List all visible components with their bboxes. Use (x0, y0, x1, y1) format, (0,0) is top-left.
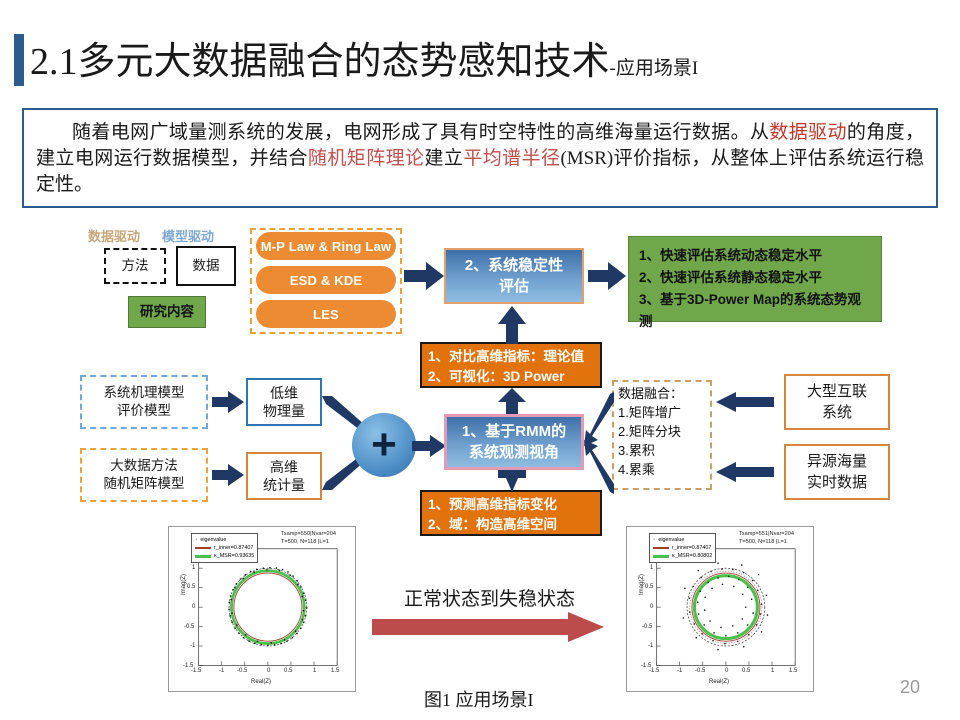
chart-left-legend-label-0: eigenvalue (200, 536, 226, 544)
msr-line-icon (653, 555, 669, 558)
chart-left-ytick-4: 0.5 (187, 584, 195, 590)
arrow-mechanism-to-lowdim (212, 391, 244, 413)
chart-right-xlabel: Real(Z) (709, 679, 729, 685)
chart-left-xtick-6: 1.5 (331, 668, 339, 674)
arrow-rmm-to-predict-note (498, 470, 526, 492)
chart-left-title-line1: Tsamp=550|Nvar=204 (281, 531, 336, 539)
method-pill-les-label: LES (313, 307, 339, 322)
paragraph-highlight-msr: 平均谱半径 (463, 148, 560, 169)
arrow-rmm-to-note (498, 388, 526, 414)
box-heterogeneous-realtime-data-line2: 实时数据 (807, 472, 867, 493)
paragraph-highlight-rmt: 随机矩阵理论 (308, 148, 425, 169)
legend-box-research-label: 研究内容 (140, 303, 194, 321)
chart-right-xtick-5: 1 (771, 668, 774, 674)
chart-right-title: Tsamp=551|Nvar=204 T=500, N=118 |L=1 (739, 531, 794, 546)
chart-left-ytick-5: 1 (192, 565, 195, 571)
chart-left-legend-item-2: κ_MSR=0.93635 (195, 552, 254, 560)
box-large-interconnected-system-line1: 大型互联 (807, 381, 867, 402)
legend-box-method-label: 方法 (122, 257, 149, 275)
chart-right-xtick-6: 1.5 (789, 668, 797, 674)
note-compare-line-1: 1、对比高维指标：理论值 (428, 347, 594, 367)
eigenvalue-dot-icon: · (195, 537, 197, 543)
paragraph-segment-1: 随着电网广域量测系统的发展，电网形成了具有时空特性的高维海量运行数据。从 (72, 122, 769, 143)
r-inner-line-icon (195, 547, 211, 549)
arrow-plus-to-rmm (412, 435, 446, 457)
chart-left-xtick-5: 1 (313, 668, 316, 674)
title-accent-bar (14, 34, 24, 86)
fusion-title: 数据融合： (618, 384, 712, 403)
chart-right-legend-item-2: κ_MSR=0.80802 (653, 552, 712, 560)
note-predict-line-1: 1、预测高维指标变化 (428, 495, 594, 515)
fusion-item-1: 1.矩阵增广 (618, 403, 712, 422)
box-bigdata-method: 大数据方法 随机矩阵模型 (80, 448, 208, 502)
box-large-interconnected-system: 大型互联 系统 (784, 374, 890, 430)
arrow-fusion-top-to-rmm (584, 392, 614, 446)
fusion-item-3: 3.累积 (618, 441, 712, 460)
chart-left-legend-item-1: r_inner=0.87407 (195, 544, 254, 552)
arrow-stability-to-results (588, 262, 626, 290)
transition-arrow-icon (372, 612, 604, 642)
chart-right-title-line2: T=500, N=118 |L=1 (739, 539, 794, 547)
fusion-item-4: 4.累乘 (618, 460, 712, 479)
chart-right-ytick-1: -1 (648, 643, 653, 649)
chart-right-ytick-4: 0.5 (645, 584, 653, 590)
module-rmm-observation[interactable]: 1、基于RMM的 系统观测视角 (444, 414, 584, 470)
chart-right-legend-label-1: r_inner=0.87407 (672, 544, 711, 552)
results-line-3: 3、基于3D-Power Map的系统态势观测 (639, 289, 871, 333)
chart-left-xtick-2: -0.5 (237, 668, 247, 674)
method-pill-esd-kde-label: ESD & KDE (290, 273, 363, 288)
arrow-bigdata-to-highdim (212, 464, 244, 486)
legend-box-research: 研究内容 (128, 296, 206, 328)
chart-right-legend: · eigenvalue r_inner=0.87407 κ_MSR=0.808… (649, 533, 716, 563)
summary-paragraph: 随着电网广域量测系统的发展，电网形成了具有时空特性的高维海量运行数据。从数据驱动… (36, 120, 924, 198)
chart-right-legend-label-2: κ_MSR=0.80802 (672, 552, 712, 560)
fusion-item-2: 2.矩阵分块 (618, 422, 712, 441)
chart-left-xtick-1: -1 (219, 668, 224, 674)
chart-left-ytick-3: 0 (192, 604, 195, 610)
figure-caption: 图1 应用场景I (424, 686, 534, 712)
module-system-stability-line1: 2、系统稳定性 (465, 255, 563, 276)
page-title: 2.1多元大数据融合的态势感知技术-应用场景I (30, 30, 698, 85)
chart-right-legend-item-1: r_inner=0.87407 (653, 544, 712, 552)
transition-label: 正常状态到失稳状态 (404, 584, 575, 611)
results-panel: 1、快速评估系统动态稳定水平 2、快速评估系统静态稳定水平 3、基于3D-Pow… (628, 236, 882, 322)
chart-right-ytick-2: -0.5 (642, 624, 652, 630)
legend-box-data-label: 数据 (193, 257, 220, 275)
legend-label-data-driven: 数据驱动 (88, 226, 140, 245)
arrow-note-to-stability (498, 306, 526, 344)
chart-left-legend-item-0: · eigenvalue (195, 536, 254, 544)
chart-left-legend-label-2: κ_MSR=0.93635 (214, 552, 254, 560)
box-low-dimension-line2: 物理量 (263, 402, 305, 420)
arrow-realtime-data-to-fusion (716, 462, 774, 482)
eigenvalue-dot-icon: · (653, 537, 655, 543)
msr-line-icon (195, 555, 211, 558)
arrow-methods-to-stability (404, 262, 444, 290)
box-high-dimension-line2: 统计量 (263, 476, 305, 494)
method-pill-mp-ring-law-label: M-P Law & Ring Law (261, 239, 391, 254)
chart-right-ytick-5: 1 (650, 565, 653, 571)
chart-left-xlabel: Real(Z) (251, 679, 271, 685)
chart-left-xtick-3: 0 (267, 668, 270, 674)
chart-right-eigenvalue-ring: · eigenvalue r_inner=0.87407 κ_MSR=0.808… (626, 526, 814, 692)
box-low-dimension: 低维 物理量 (246, 378, 322, 426)
chart-left-eigenvalue-ring: · eigenvalue r_inner=0.87407 κ_MSR=0.936… (168, 526, 356, 692)
legend-box-method: 方法 (104, 248, 166, 284)
page-subtitle-text: -应用场景I (610, 58, 699, 79)
module-rmm-observation-line2: 系统观测视角 (462, 442, 566, 463)
method-pill-esd-kde[interactable]: ESD & KDE (256, 266, 396, 294)
chart-left-ytick-0: -1.5 (183, 663, 193, 669)
chart-left-ytick-2: -0.5 (184, 624, 194, 630)
box-large-interconnected-system-line2: 系统 (807, 402, 867, 423)
summary-panel: 随着电网广域量测系统的发展，电网形成了具有时空特性的高维海量运行数据。从数据驱动… (22, 108, 938, 208)
plus-glyph: + (371, 425, 397, 465)
page-number: 20 (900, 677, 920, 698)
r-inner-line-icon (653, 547, 669, 549)
chart-right-xtick-1: -1 (677, 668, 682, 674)
box-high-dimension: 高维 统计量 (246, 452, 322, 500)
box-heterogeneous-realtime-data-line1: 异源海量 (807, 451, 867, 472)
arrow-fusion-bottom-to-rmm (584, 440, 614, 494)
module-rmm-observation-line1: 1、基于RMM的 (462, 421, 566, 442)
box-mechanism-model-line1: 系统机理模型 (104, 384, 185, 402)
box-bigdata-method-line1: 大数据方法 (104, 457, 185, 475)
plus-combiner-icon: + (352, 413, 416, 477)
results-line-2: 2、快速评估系统静态稳定水平 (639, 267, 871, 289)
chart-left-legend: · eigenvalue r_inner=0.87407 κ_MSR=0.936… (191, 533, 258, 563)
note-compare-visualize: 1、对比高维指标：理论值 2、可视化：3D Power Map (420, 342, 602, 388)
chart-left-legend-label-1: r_inner=0.87407 (214, 544, 253, 552)
legend-box-data: 数据 (176, 246, 236, 286)
chart-right-xtick-3: 0 (725, 668, 728, 674)
chart-right-ytick-0: -1.5 (641, 663, 651, 669)
page-title-text: 2.1多元大数据融合的态势感知技术 (30, 41, 610, 83)
chart-right-legend-item-0: · eigenvalue (653, 536, 712, 544)
chart-left-title-line2: T=500, N=118 |L=1 (281, 539, 336, 547)
arrow-large-system-to-fusion (716, 392, 774, 412)
slide-canvas: 2.1多元大数据融合的态势感知技术-应用场景I 随着电网广域量测系统的发展，电网… (0, 0, 960, 720)
chart-left-title: Tsamp=550|Nvar=204 T=500, N=118 |L=1 (281, 531, 336, 546)
paragraph-highlight-data-driven: 数据驱动 (769, 122, 846, 143)
chart-right-xtick-4: 0.5 (742, 668, 750, 674)
chart-right-ytick-3: 0 (650, 604, 653, 610)
fusion-list: 数据融合： 1.矩阵增广 2.矩阵分块 3.累积 4.累乘 (618, 384, 712, 479)
box-bigdata-method-line2: 随机矩阵模型 (104, 475, 185, 493)
box-mechanism-model-line2: 评价模型 (104, 402, 185, 420)
chart-left-xtick-4: 0.5 (284, 668, 292, 674)
box-heterogeneous-realtime-data: 异源海量 实时数据 (784, 444, 890, 500)
results-line-1: 1、快速评估系统动态稳定水平 (639, 245, 871, 267)
paragraph-segment-5: 建立 (424, 148, 463, 169)
box-mechanism-model: 系统机理模型 评价模型 (80, 375, 208, 429)
chart-right-legend-label-0: eigenvalue (658, 536, 684, 544)
chart-right-title-line1: Tsamp=551|Nvar=204 (739, 531, 794, 539)
method-pill-les[interactable]: LES (256, 300, 396, 328)
box-high-dimension-line1: 高维 (263, 458, 305, 476)
module-system-stability-line2: 评估 (465, 276, 563, 297)
module-system-stability[interactable]: 2、系统稳定性 评估 (444, 248, 584, 304)
chart-right-xtick-2: -0.5 (695, 668, 705, 674)
legend-label-model-driven: 模型驱动 (162, 226, 214, 245)
note-predict-line-2: 2、域：构造高维空间 (428, 515, 594, 535)
note-predict-domain: 1、预测高维指标变化 2、域：构造高维空间 (420, 490, 602, 536)
box-low-dimension-line1: 低维 (263, 384, 305, 402)
chart-left-ytick-1: -1 (190, 643, 195, 649)
method-pill-mp-ring-law[interactable]: M-P Law & Ring Law (256, 232, 396, 260)
